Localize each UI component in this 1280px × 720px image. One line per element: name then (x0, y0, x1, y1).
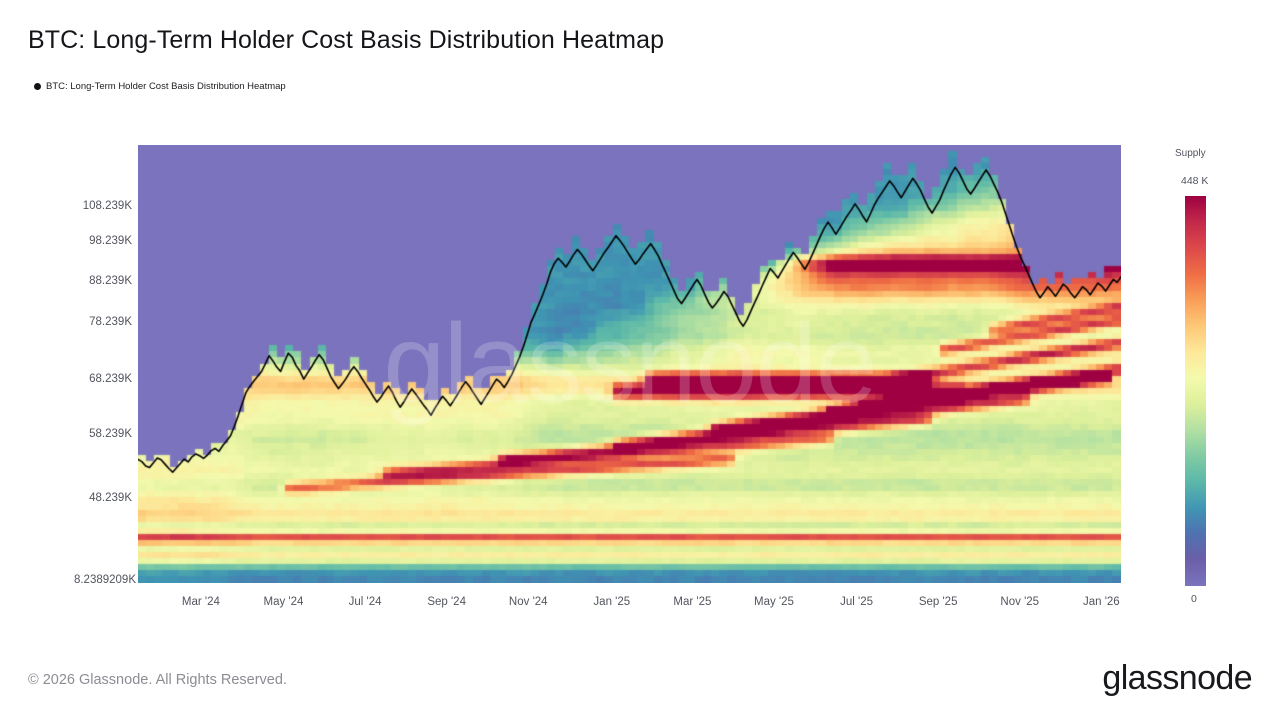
x-axis-tick: Jul '24 (349, 596, 382, 608)
x-axis-tick: Jul '25 (840, 596, 873, 608)
y-axis-tick: 108.239K (83, 200, 132, 212)
colorbar-title: Supply (1175, 148, 1206, 159)
x-axis-tick: Sep '25 (919, 596, 958, 608)
y-axis-tick: 78.239K (89, 316, 132, 328)
y-axis-tick: 98.239K (89, 235, 132, 247)
y-axis: 108.239K98.239K88.239K78.239K68.239K58.2… (0, 145, 132, 583)
x-axis-tick: Mar '25 (673, 596, 711, 608)
x-axis-tick: Nov '24 (509, 596, 548, 608)
x-axis-tick: Jan '26 (1083, 596, 1120, 608)
legend-series-label: BTC: Long-Term Holder Cost Basis Distrib… (46, 81, 286, 92)
heatmap-canvas[interactable] (138, 145, 1121, 583)
colorbar-min-label: 0 (1191, 593, 1197, 605)
x-axis-tick: Sep '24 (427, 596, 466, 608)
x-axis-tick: Nov '25 (1000, 596, 1039, 608)
y-axis-tick: 58.239K (89, 428, 132, 440)
x-axis: Mar '24May '24Jul '24Sep '24Nov '24Jan '… (138, 596, 1121, 618)
chart-legend[interactable]: BTC: Long-Term Holder Cost Basis Distrib… (34, 81, 286, 92)
colorbar-max-label: 448 K (1181, 175, 1208, 187)
x-axis-tick: May '24 (264, 596, 304, 608)
y-axis-tick: 48.239K (89, 492, 132, 504)
page-title: BTC: Long-Term Holder Cost Basis Distrib… (28, 26, 664, 55)
x-axis-tick: Mar '24 (182, 596, 220, 608)
heatmap-plot[interactable] (138, 145, 1121, 583)
footer-copyright: © 2026 Glassnode. All Rights Reserved. (28, 672, 287, 688)
y-axis-tick: 8.2389209K (74, 574, 136, 586)
x-axis-tick: May '25 (754, 596, 794, 608)
colorbar-gradient (1185, 196, 1206, 586)
y-axis-tick: 88.239K (89, 275, 132, 287)
legend-marker-icon (34, 83, 41, 90)
x-axis-tick: Jan '25 (593, 596, 630, 608)
y-axis-tick: 68.239K (89, 373, 132, 385)
glassnode-logo: glassnode (1102, 659, 1252, 698)
